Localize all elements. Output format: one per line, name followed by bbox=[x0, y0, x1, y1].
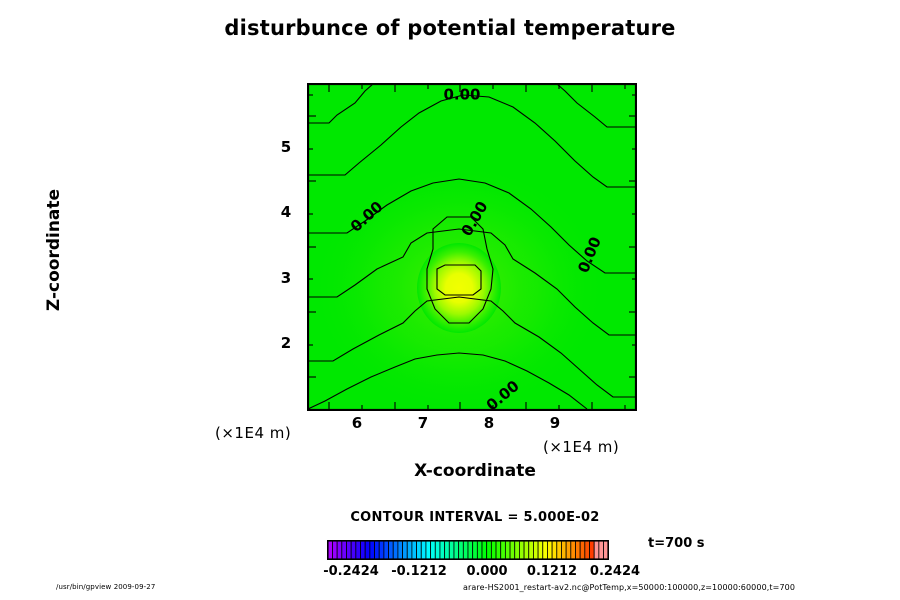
y-tick-label-4: 4 bbox=[276, 203, 296, 221]
y-axis-unit-label: (×1E4 m) bbox=[215, 424, 291, 442]
colorbar-band bbox=[501, 541, 506, 559]
colorbar-band bbox=[463, 541, 468, 559]
colorbar-band bbox=[543, 541, 548, 559]
colorbar-band bbox=[482, 541, 487, 559]
colorbar-band bbox=[566, 541, 571, 559]
colorbar-band bbox=[426, 541, 431, 559]
x-axis-title: X-coordinate bbox=[330, 461, 620, 481]
colorbar-band bbox=[459, 541, 464, 559]
colorbar-band bbox=[519, 541, 524, 559]
x-tick-label-2: 8 bbox=[474, 414, 504, 432]
colorbar-band bbox=[370, 541, 375, 559]
colorbar-band bbox=[412, 541, 417, 559]
colorbar-band bbox=[332, 541, 337, 559]
colorbar-label-1: -0.1212 bbox=[389, 564, 449, 579]
colorbar-band bbox=[445, 541, 450, 559]
colorbar-band bbox=[431, 541, 436, 559]
colorbar-band bbox=[440, 541, 445, 559]
colorbar-band bbox=[585, 541, 590, 559]
colorbar-band bbox=[398, 541, 403, 559]
colorbar-band bbox=[407, 541, 412, 559]
colorbar-band bbox=[594, 541, 599, 559]
colorbar-band bbox=[379, 541, 384, 559]
contour-plot: 0.000.000.000.000.00 bbox=[307, 83, 637, 411]
colorbar-band bbox=[356, 541, 361, 559]
colorbar bbox=[327, 540, 609, 560]
colorbar-band bbox=[491, 541, 496, 559]
colorbar-band bbox=[524, 541, 529, 559]
x-axis-unit-label: (×1E4 m) bbox=[543, 438, 619, 456]
colorbar-band bbox=[351, 541, 356, 559]
colorbar-band bbox=[590, 541, 595, 559]
colorbar-band bbox=[477, 541, 482, 559]
colorbar-band bbox=[375, 541, 380, 559]
colorbar-bands bbox=[328, 541, 608, 559]
colorbar-label-4: 0.2424 bbox=[585, 564, 645, 579]
colorbar-band bbox=[361, 541, 366, 559]
colorbar-band bbox=[365, 541, 370, 559]
colorbar-band bbox=[342, 541, 347, 559]
colorbar-band bbox=[473, 541, 478, 559]
y-axis-title: Z-coordinate bbox=[44, 170, 64, 330]
page-title: disturbunce of potential temperature bbox=[0, 16, 900, 40]
y-tick-label-2: 2 bbox=[276, 334, 296, 352]
x-tick-label-3: 9 bbox=[540, 414, 570, 432]
colorbar-band bbox=[575, 541, 580, 559]
colorbar-band bbox=[346, 541, 351, 559]
colorbar-band bbox=[449, 541, 454, 559]
colorbar-band bbox=[389, 541, 394, 559]
colorbar-band bbox=[515, 541, 520, 559]
colorbar-band bbox=[547, 541, 552, 559]
colorbar-band bbox=[468, 541, 473, 559]
colorbar-band bbox=[599, 541, 604, 559]
colorbar-band bbox=[435, 541, 440, 559]
colorbar-band bbox=[417, 541, 422, 559]
colorbar-band bbox=[552, 541, 557, 559]
colorbar-band bbox=[454, 541, 459, 559]
colorbar-band bbox=[505, 541, 510, 559]
y-tick-label-5: 5 bbox=[276, 138, 296, 156]
app-stamp: /usr/bin/gpview 2009-09-27 bbox=[56, 583, 155, 591]
colorbar-band bbox=[510, 541, 515, 559]
colorbar-label-3: 0.1212 bbox=[522, 564, 582, 579]
colorbar-band bbox=[529, 541, 534, 559]
colorbar-band bbox=[337, 541, 342, 559]
colorbar-band bbox=[557, 541, 562, 559]
colorbar-band bbox=[487, 541, 492, 559]
time-label: t=700 s bbox=[648, 536, 705, 551]
colorbar-label-2: 0.000 bbox=[457, 564, 517, 579]
colorbar-band bbox=[403, 541, 408, 559]
contour-label-0: 0.00 bbox=[443, 86, 480, 104]
x-tick-label-0: 6 bbox=[342, 414, 372, 432]
colorbar-band bbox=[538, 541, 543, 559]
colorbar-band bbox=[580, 541, 585, 559]
colorbar-tick-labels: -0.2424 -0.1212 0.000 0.1212 0.2424 bbox=[317, 564, 617, 582]
colorbar-band bbox=[393, 541, 398, 559]
colorbar-label-0: -0.2424 bbox=[321, 564, 381, 579]
colorbar-band bbox=[571, 541, 576, 559]
source-caption: arare-HS2001_restart-av2.nc@PotTemp,x=50… bbox=[463, 583, 795, 592]
colorbar-band bbox=[421, 541, 426, 559]
x-tick-label-1: 7 bbox=[408, 414, 438, 432]
colorbar-band bbox=[384, 541, 389, 559]
y-tick-label-3: 3 bbox=[276, 269, 296, 287]
colorbar-band bbox=[496, 541, 501, 559]
colorbar-band bbox=[561, 541, 566, 559]
contour-interval-label: CONTOUR INTERVAL = 5.000E-02 bbox=[250, 510, 700, 525]
colorbar-band bbox=[533, 541, 538, 559]
